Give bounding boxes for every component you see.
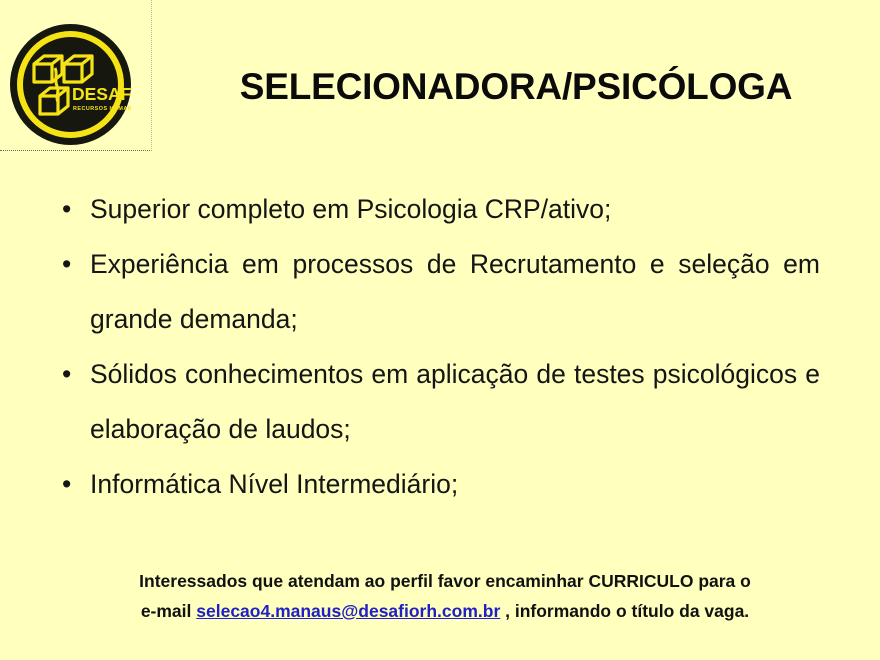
- footer-line-2: e-mail selecao4.manaus@desafiorh.com.br …: [55, 596, 835, 626]
- footer-line-2-suffix: , informando o título da vaga.: [500, 601, 749, 621]
- list-item: • Superior completo em Psicologia CRP/at…: [58, 182, 820, 237]
- list-item-text: Superior completo em Psicologia CRP/ativ…: [90, 182, 820, 237]
- list-item: • Informática Nível Intermediário;: [58, 457, 820, 512]
- page-title: SELECIONADORA/PSICÓLOGA: [152, 68, 880, 107]
- logo-brand-text: DESAFIO: [72, 84, 131, 104]
- logo-cubes-icon: DESAFIO RECURSOS HUMANOS: [10, 24, 131, 145]
- logo-tagline-text: RECURSOS HUMANOS: [73, 106, 131, 112]
- list-item-text: Sólidos conhecimentos em aplicação de te…: [90, 347, 820, 457]
- list-item: • Experiência em processos de Recrutamen…: [58, 237, 820, 347]
- list-item-text: Experiência em processos de Recrutamento…: [90, 237, 820, 347]
- bullet-marker: •: [62, 457, 71, 512]
- bullet-marker: •: [62, 182, 71, 237]
- email-link[interactable]: selecao4.manaus@desafiorh.com.br: [196, 601, 500, 621]
- desafio-logo: DESAFIO RECURSOS HUMANOS: [10, 24, 131, 145]
- bullet-marker: •: [62, 237, 71, 292]
- logo-artwork: DESAFIO RECURSOS HUMANOS: [10, 24, 131, 145]
- list-item-text: Informática Nível Intermediário;: [90, 457, 820, 512]
- footer-line-2-prefix: e-mail: [141, 601, 196, 621]
- bullet-marker: •: [62, 347, 71, 402]
- logo-placeholder-box: DESAFIO RECURSOS HUMANOS: [0, 0, 152, 151]
- contact-footer: Interessados que atendam ao perfil favor…: [55, 566, 835, 626]
- slide-canvas: DESAFIO RECURSOS HUMANOS SELECIONADORA/P…: [0, 0, 880, 660]
- list-item: • Sólidos conhecimentos em aplicação de …: [58, 347, 820, 457]
- requirements-list: • Superior completo em Psicologia CRP/at…: [58, 182, 820, 512]
- footer-line-1: Interessados que atendam ao perfil favor…: [55, 566, 835, 596]
